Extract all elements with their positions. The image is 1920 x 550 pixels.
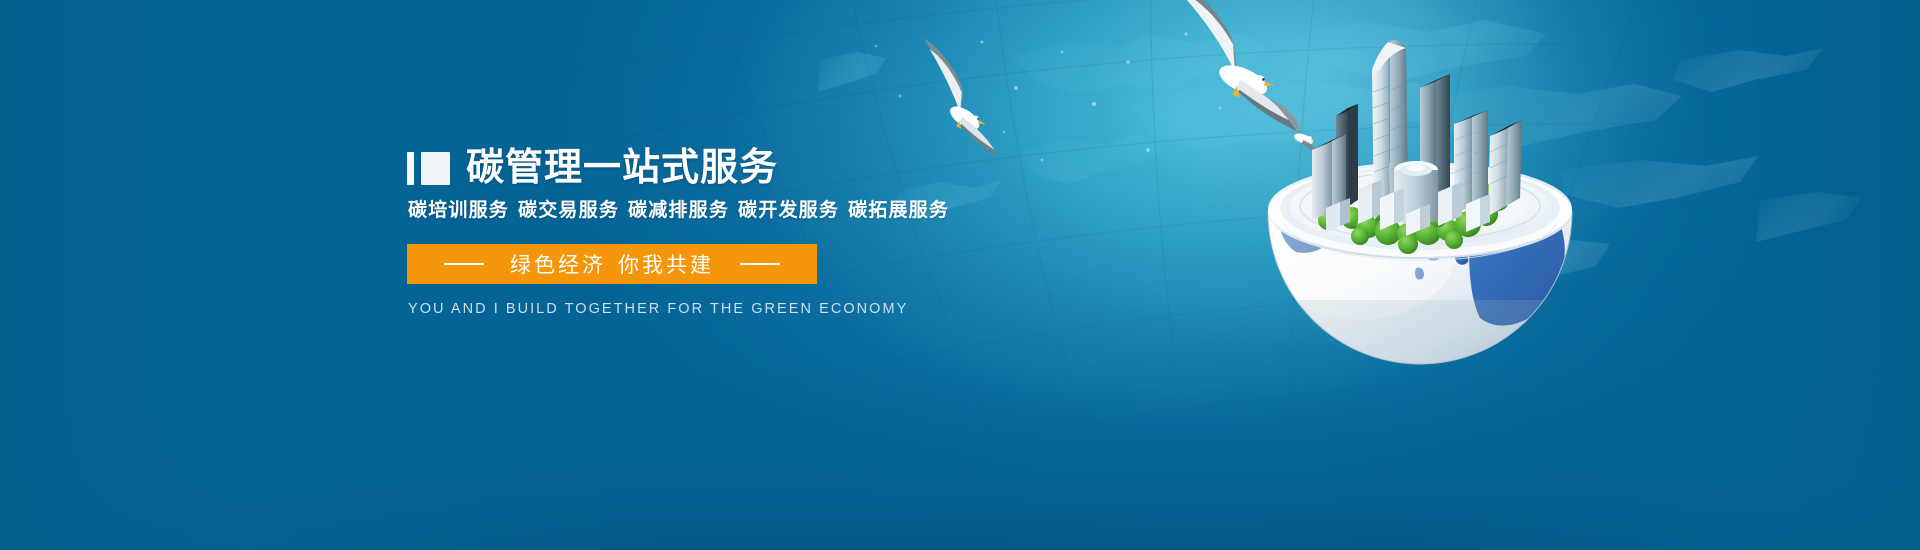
service-item-2: 碳减排服务 [628,199,729,221]
slogan-primary: 绿色经济 [510,253,606,277]
slogan-secondary: 你我共建 [618,253,714,277]
globe-city-artwork [1240,0,1600,420]
carbon-management-banner: 碳管理一站式服务 碳培训服务碳交易服务碳减排服务碳开发服务碳拓展服务 绿色经济你… [0,0,1920,550]
logo-bar-icon [407,152,414,185]
service-item-0: 碳培训服务 [408,199,509,221]
slogan-banner: 绿色经济你我共建 [407,244,817,284]
service-item-4: 碳拓展服务 [848,199,949,221]
service-list: 碳培训服务碳交易服务碳减排服务碳开发服务碳拓展服务 [408,195,1107,222]
english-tagline: YOU AND I BUILD TOGETHER FOR THE GREEN E… [408,301,1107,317]
logo-square-icon [421,152,450,185]
service-item-3: 碳开发服务 [738,199,839,221]
slogan-text: 绿色经济你我共建 [510,249,714,279]
banner-copy-block: 碳管理一站式服务 碳培训服务碳交易服务碳减排服务碳开发服务碳拓展服务 绿色经济你… [407,148,1107,317]
page-title: 碳管理一站式服务 [466,148,778,186]
brand-logo-icon [407,152,450,185]
slogan-rule-right [740,263,780,265]
headline-row: 碳管理一站式服务 [407,148,1107,186]
3d-city-skyscrapers [1312,40,1522,236]
slogan-rule-left [444,263,484,265]
service-item-1: 碳交易服务 [518,199,619,221]
